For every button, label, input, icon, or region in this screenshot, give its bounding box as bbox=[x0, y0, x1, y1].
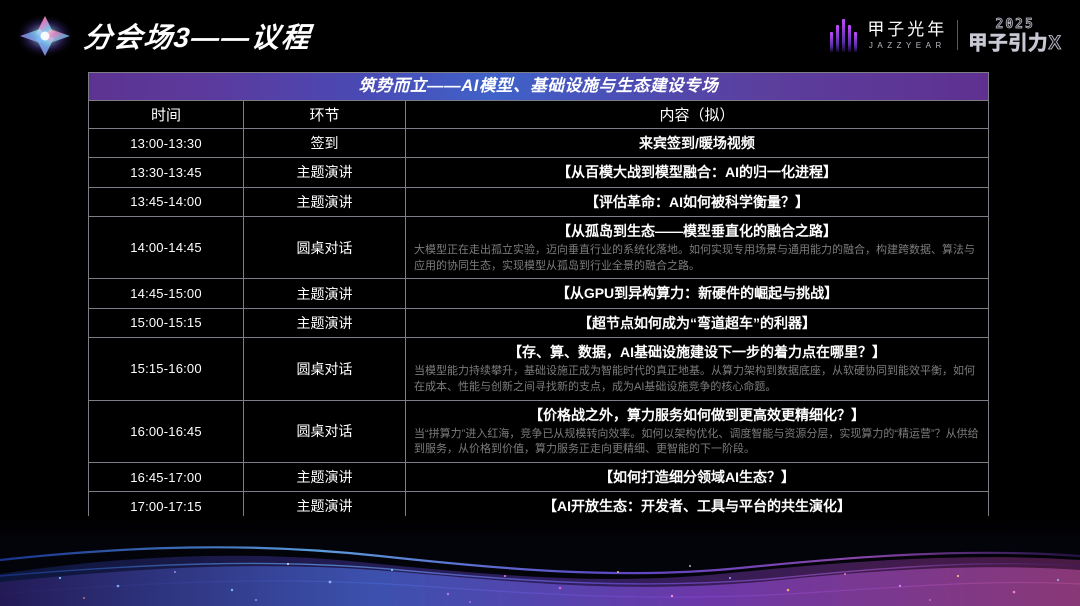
table-row: 15:00-15:15主题演讲【超节点如何成为“弯道超车”的利器】 bbox=[89, 308, 989, 337]
content-title: 【评估革命：AI如何被科学衡量？】 bbox=[585, 194, 809, 210]
cell-time: 13:30-13:45 bbox=[89, 158, 244, 187]
cell-time: 14:45-15:00 bbox=[89, 279, 244, 308]
cell-content: 【存、算、数据，AI基础设施建设下一步的着力点在哪里？】当模型能力持续攀升，基础… bbox=[406, 338, 989, 401]
event-logo-block: 2025 甲子引力X bbox=[968, 18, 1062, 53]
cell-content: 【从GPU到异构算力：新硬件的崛起与挑战】 bbox=[406, 279, 989, 308]
cell-content: 颁奖盛典 bbox=[244, 584, 989, 606]
table-row: 15:15-16:00圆桌对话【存、算、数据，AI基础设施建设下一步的着力点在哪… bbox=[89, 338, 989, 401]
column-header-type: 环节 bbox=[244, 101, 406, 129]
table-row: 16:00-16:45圆桌对话【价格战之外，算力服务如何做到更高效更精细化？】当… bbox=[89, 400, 989, 463]
content-title: 【超节点如何成为“弯道超车”的利器】 bbox=[578, 315, 816, 331]
content-title: 【从百模大战到模型融合：AI的归一化进程】 bbox=[557, 164, 837, 180]
slide-canvas: 分会场3——议程 甲子光年 JAZZYEAR 2025 甲子引力X bbox=[0, 0, 1080, 606]
cell-session-type: 圆桌对话 bbox=[244, 521, 406, 584]
cell-content: 【AI生态的未来：从工具网络到智能文明】生态的最终形态是什么？AI是否会形成“自… bbox=[406, 521, 989, 584]
cell-content: 【超节点如何成为“弯道超车”的利器】 bbox=[406, 308, 989, 337]
cell-session-type: 主题演讲 bbox=[244, 308, 406, 337]
content-title: 颁奖盛典 bbox=[588, 590, 644, 606]
cell-content: 【从百模大战到模型融合：AI的归一化进程】 bbox=[406, 158, 989, 187]
cell-content: 【价格战之外，算力服务如何做到更高效更精细化？】当“拼算力”进入红海，竞争已从规… bbox=[406, 400, 989, 463]
cell-content: 【评估革命：AI如何被科学衡量？】 bbox=[406, 187, 989, 216]
content-description: 生态的最终形态是什么？AI是否会形成“自组织经济体”？如何构建人与AI、AI与A… bbox=[414, 548, 980, 579]
content-title: 【从GPU到异构算力：新硬件的崛起与挑战】 bbox=[556, 285, 838, 301]
table-row: 13:30-13:45主题演讲【从百模大战到模型融合：AI的归一化进程】 bbox=[89, 158, 989, 187]
event-year: 2025 bbox=[996, 18, 1035, 31]
brand-divider bbox=[957, 20, 958, 50]
content-title: 【从孤岛到生态——模型垂直化的融合之路】 bbox=[557, 223, 837, 239]
table-row: 14:45-15:00主题演讲【从GPU到异构算力：新硬件的崛起与挑战】 bbox=[89, 279, 989, 308]
session-banner-text: 筑势而立——AI模型、基础设施与生态建设专场 bbox=[89, 73, 988, 100]
agenda-table-body: 13:00-13:30签到来宾签到/暖场视频13:30-13:45主题演讲【从百… bbox=[89, 129, 989, 606]
content-description: 当“拼算力”进入红海，竞争已从规模转向效率。如何以架构优化、调度智能与资源分层，… bbox=[414, 427, 980, 458]
cell-session-type: 圆桌对话 bbox=[244, 338, 406, 401]
table-row: 13:00-13:30签到来宾签到/暖场视频 bbox=[89, 129, 989, 158]
session-banner-row: 筑势而立——AI模型、基础设施与生态建设专场 bbox=[89, 73, 989, 101]
content-description: 大模型正在走出孤立实验，迈向垂直行业的系统化落地。如何实现专用场景与通用能力的融… bbox=[414, 243, 980, 274]
cell-session-type: 主题演讲 bbox=[244, 463, 406, 492]
cell-time: 15:00-15:15 bbox=[89, 308, 244, 337]
cell-content: 【如何打造细分领域AI生态？】 bbox=[406, 463, 989, 492]
brand-bars-icon bbox=[830, 18, 857, 52]
brand-logo: 甲子光年 JAZZYEAR 2025 甲子引力X bbox=[830, 14, 1062, 56]
brand-name-en: JAZZYEAR bbox=[869, 42, 946, 50]
table-row: 17:00-17:15主题演讲【AI开放生态：开发者、工具与平台的共生演化】 bbox=[89, 492, 989, 521]
cell-time: 14:00-14:45 bbox=[89, 216, 244, 279]
cell-time: 16:45-17:00 bbox=[89, 463, 244, 492]
cell-session-type: 主题演讲 bbox=[244, 279, 406, 308]
content-title: 来宾签到/暖场视频 bbox=[639, 135, 755, 151]
content-title: 【存、算、数据，AI基础设施建设下一步的着力点在哪里？】 bbox=[508, 344, 886, 360]
cell-time: 13:45-14:00 bbox=[89, 187, 244, 216]
cell-session-type: 主题演讲 bbox=[244, 492, 406, 521]
event-name: 甲子引力X bbox=[968, 34, 1062, 53]
content-title: 【AI开放生态：开发者、工具与平台的共生演化】 bbox=[543, 498, 851, 514]
cell-session-type: 圆桌对话 bbox=[244, 400, 406, 463]
cell-time: 13:00-13:30 bbox=[89, 129, 244, 158]
content-description: 当模型能力持续攀升，基础设施正成为智能时代的真正地基。从算力架构到数据底座，从软… bbox=[414, 364, 980, 395]
cell-session-type: 主题演讲 bbox=[244, 158, 406, 187]
cell-content: 【AI开放生态：开发者、工具与平台的共生演化】 bbox=[406, 492, 989, 521]
content-title: 【如何打造细分领域AI生态？】 bbox=[599, 469, 795, 485]
cell-session-type: 主题演讲 bbox=[244, 187, 406, 216]
agenda-table: 筑势而立——AI模型、基础设施与生态建设专场 时间 环节 内容（拟） 13:00… bbox=[88, 72, 989, 606]
cell-time: 17:15-18:00 bbox=[89, 521, 244, 584]
title-group: 分会场3——议程 bbox=[14, 12, 312, 60]
agenda-table-wrapper: 筑势而立——AI模型、基础设施与生态建设专场 时间 环节 内容（拟） 13:00… bbox=[88, 72, 988, 606]
column-header-row: 时间 环节 内容（拟） bbox=[89, 101, 989, 129]
column-header-time: 时间 bbox=[89, 101, 244, 129]
page-title: 分会场3——议程 bbox=[82, 16, 314, 56]
column-header-detail: 内容（拟） bbox=[406, 101, 989, 129]
table-row: 18:00-18:20颁奖盛典 bbox=[89, 584, 989, 606]
table-row: 13:45-14:00主题演讲【评估革命：AI如何被科学衡量？】 bbox=[89, 187, 989, 216]
brand-name-cn: 甲子光年 bbox=[867, 21, 947, 38]
cell-time: 17:00-17:15 bbox=[89, 492, 244, 521]
session-banner-cell: 筑势而立——AI模型、基础设施与生态建设专场 bbox=[89, 73, 989, 101]
cell-session-type: 圆桌对话 bbox=[244, 216, 406, 279]
cell-time: 18:00-18:20 bbox=[89, 584, 244, 606]
content-title: 【价格战之外，算力服务如何做到更高效更精细化？】 bbox=[529, 407, 865, 423]
cell-content: 【从孤岛到生态——模型垂直化的融合之路】大模型正在走出孤立实验，迈向垂直行业的系… bbox=[406, 216, 989, 279]
cell-time: 15:15-16:00 bbox=[89, 338, 244, 401]
cell-content: 来宾签到/暖场视频 bbox=[406, 129, 989, 158]
table-row: 16:45-17:00主题演讲【如何打造细分领域AI生态？】 bbox=[89, 463, 989, 492]
slide-header: 分会场3——议程 甲子光年 JAZZYEAR 2025 甲子引力X bbox=[0, 0, 1080, 70]
content-title: 【AI生态的未来：从工具网络到智能文明】 bbox=[564, 528, 830, 544]
cell-session-type: 签到 bbox=[244, 129, 406, 158]
table-row: 14:00-14:45圆桌对话【从孤岛到生态——模型垂直化的融合之路】大模型正在… bbox=[89, 216, 989, 279]
table-row: 17:15-18:00圆桌对话【AI生态的未来：从工具网络到智能文明】生态的最终… bbox=[89, 521, 989, 584]
agenda-table-head: 筑势而立——AI模型、基础设施与生态建设专场 时间 环节 内容（拟） bbox=[89, 73, 989, 129]
prismatic-spark-icon bbox=[14, 12, 76, 60]
brand-name-block: 甲子光年 JAZZYEAR bbox=[867, 21, 947, 50]
cell-time: 16:00-16:45 bbox=[89, 400, 244, 463]
